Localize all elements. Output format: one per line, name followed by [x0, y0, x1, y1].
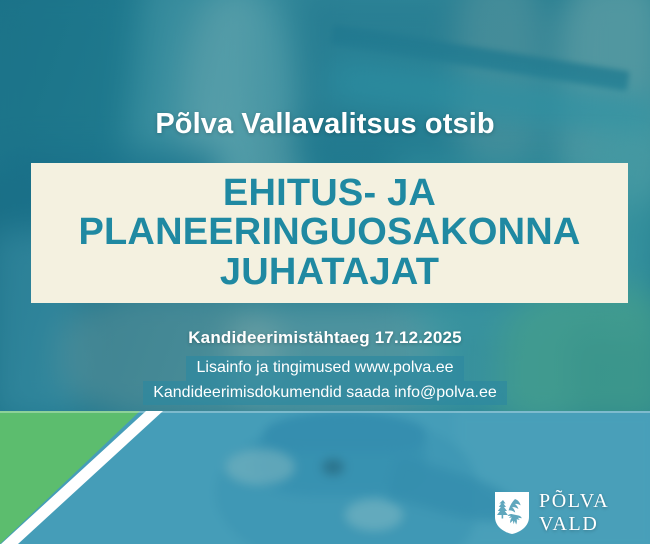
job-title-card: EHITUS- JA PLANEERINGUOSAKONNA JUHATAJAT	[31, 163, 628, 303]
job-title-line-2: PLANEERINGUOSAKONNA	[31, 213, 628, 252]
info-line-email: Kandideerimisdokumendid saada info@polva…	[143, 381, 507, 406]
job-title-line-1: EHITUS- JA	[31, 174, 628, 213]
info-line-website: Lisainfo ja tingimused www.polva.ee	[186, 356, 463, 381]
job-advert-poster: Põlva Vallavalitsus otsib EHITUS- JA PLA…	[0, 0, 650, 544]
polva-vald-logo: PÕLVA VALD	[494, 490, 650, 536]
logo-text: PÕLVA VALD	[539, 490, 650, 536]
job-title-line-3: JUHATAJAT	[31, 253, 628, 292]
shield-crest-icon	[494, 491, 530, 535]
page-title-eyebrow: Põlva Vallavalitsus otsib	[0, 108, 650, 141]
application-deadline: Kandideerimistähtaeg 17.12.2025	[0, 328, 650, 348]
contact-info-block: Lisainfo ja tingimused www.polva.ee Kand…	[0, 356, 650, 405]
band-divider-line	[0, 411, 650, 413]
